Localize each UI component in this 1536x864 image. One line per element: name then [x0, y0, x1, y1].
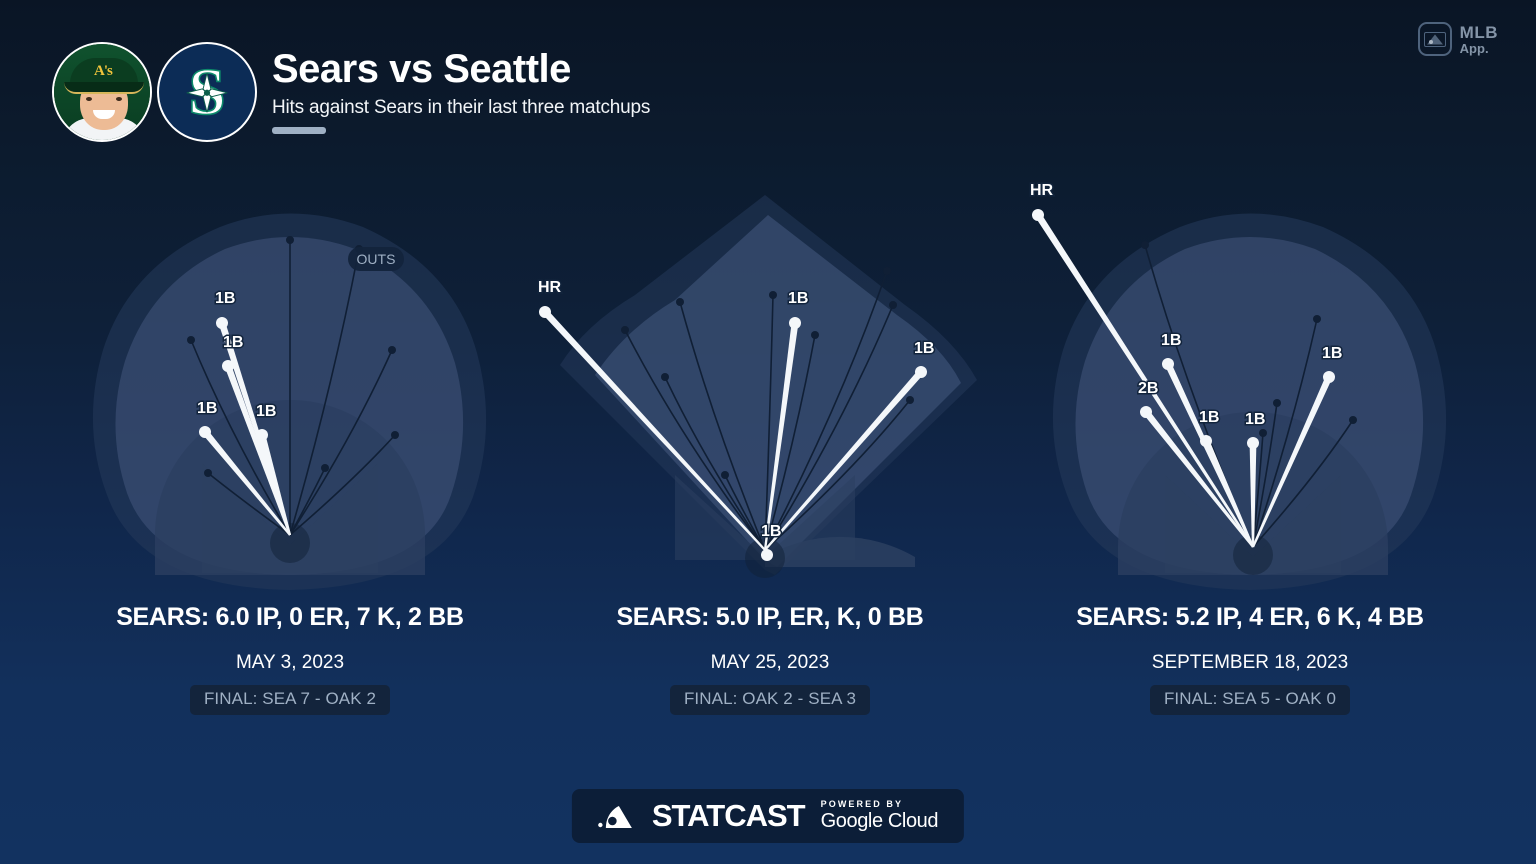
out-endpoint-marker [286, 236, 294, 244]
hit-label: 1B [223, 334, 243, 351]
game-date-0: MAY 3, 2023 [45, 652, 535, 674]
out-endpoint-marker [621, 326, 629, 334]
hit-label: 2B [1138, 380, 1158, 397]
hit-endpoint-marker [199, 426, 211, 438]
hit-endpoint-marker [256, 429, 268, 441]
google-cloud-label: Google Cloud [821, 810, 939, 833]
out-endpoint-marker [321, 464, 329, 472]
out-endpoint-marker [721, 471, 729, 479]
out-endpoint-marker [1313, 315, 1321, 323]
page-header: A's S ™ Sears vs Seattle Hits agains [0, 0, 1536, 170]
google-cloud-attribution: POWERED BY Google Cloud [821, 799, 939, 833]
hit-endpoint-marker [222, 360, 234, 372]
page-subtitle: Hits against Sears in their last three m… [272, 97, 650, 119]
hit-label: HR [1030, 182, 1054, 199]
hit-label: 1B [1322, 345, 1342, 362]
hit-endpoint-marker [539, 306, 551, 318]
header-titles: Sears vs Seattle Hits against Sears in t… [272, 48, 650, 134]
final-score-badge-0: FINAL: SEA 7 - OAK 2 [190, 685, 390, 715]
spray-chart-panel-2: HR1B2B1B1B1B SEARS: 5.2 IP, 4 ER, 6 K, 4… [1005, 175, 1495, 735]
statcast-footer-badge: STATCAST POWERED BY Google Cloud [572, 789, 964, 843]
hit-label: 1B [215, 290, 235, 307]
athletics-cap-brim [64, 82, 144, 94]
mlb-logo-icon [1418, 22, 1452, 56]
athletics-player-headshot: A's [52, 42, 152, 142]
mlb-app-wordmark: MLB App. [1460, 24, 1498, 55]
out-endpoint-marker [906, 396, 914, 404]
final-score-wrap-2: FINAL: SEA 5 - OAK 0 [1005, 685, 1495, 715]
final-score-wrap-0: FINAL: SEA 7 - OAK 2 [45, 685, 535, 715]
hit-endpoint-marker [1323, 371, 1335, 383]
outs-legend-label: OUTS [357, 251, 396, 267]
page-title: Sears vs Seattle [272, 48, 650, 90]
out-endpoint-marker [883, 267, 891, 275]
hit-endpoint-marker [1247, 437, 1259, 449]
game-date-1: MAY 25, 2023 [525, 652, 1015, 674]
final-score-wrap-1: FINAL: OAK 2 - SEA 3 [525, 685, 1015, 715]
title-accent-bar [272, 127, 326, 134]
out-endpoint-marker [1259, 429, 1267, 437]
athletics-cap-logo-text: A's [94, 63, 112, 80]
out-endpoint-marker [204, 469, 212, 477]
hit-endpoint-marker [216, 317, 228, 329]
mlb-wordmark-line2: App. [1460, 42, 1498, 55]
spray-chart-0[interactable]: 1B1B1B1BOUTS [45, 175, 535, 605]
hit-label: 1B [788, 290, 808, 307]
hit-endpoint-marker [1200, 435, 1212, 447]
out-endpoint-marker [388, 346, 396, 354]
hit-endpoint-marker [915, 366, 927, 378]
statcast-wordmark: STATCAST [652, 798, 805, 834]
out-endpoint-marker [1141, 241, 1149, 249]
powered-by-label: POWERED BY [821, 799, 939, 809]
out-endpoint-marker [1349, 416, 1357, 424]
hit-endpoint-marker [761, 549, 773, 561]
hit-label: 1B [1161, 332, 1181, 349]
spray-chart-2[interactable]: HR1B2B1B1B1B [1005, 175, 1495, 605]
pitcher-stat-line-0: SEARS: 6.0 IP, 0 ER, 7 K, 2 BB [45, 603, 535, 632]
headshot-eye-right [116, 97, 122, 101]
out-endpoint-marker [1273, 399, 1281, 407]
spray-chart-1[interactable]: HR1B1B1B [525, 175, 1015, 605]
hit-label: 1B [1245, 411, 1265, 428]
headshot-eye-left [86, 97, 92, 101]
pitcher-stat-line-1: SEARS: 5.0 IP, ER, K, 0 BB [525, 603, 1015, 632]
out-endpoint-marker [187, 336, 195, 344]
game-date-2: SEPTEMBER 18, 2023 [1005, 652, 1495, 674]
pitcher-stat-line-2: SEARS: 5.2 IP, 4 ER, 6 K, 4 BB [1005, 603, 1495, 632]
field-graphic [1053, 214, 1446, 591]
mlb-wordmark-line1: MLB [1460, 24, 1498, 41]
spray-chart-panel-0: 1B1B1B1BOUTS SEARS: 6.0 IP, 0 ER, 7 K, 2… [45, 175, 535, 735]
out-endpoint-marker [676, 298, 684, 306]
out-endpoint-marker [769, 291, 777, 299]
out-endpoint-marker [391, 431, 399, 439]
trademark-symbol: ™ [240, 124, 248, 133]
matchup-logos: A's S ™ [52, 42, 262, 144]
mariners-logo: S ™ [157, 42, 257, 142]
final-score-badge-1: FINAL: OAK 2 - SEA 3 [670, 685, 870, 715]
out-endpoint-marker [661, 373, 669, 381]
hit-label: 1B [914, 340, 934, 357]
final-score-badge-2: FINAL: SEA 5 - OAK 0 [1150, 685, 1350, 715]
mlb-app-brand: MLB App. [1418, 22, 1498, 56]
outs-legend-badge[interactable]: OUTS [348, 247, 404, 271]
mlb-silhouette-icon [598, 801, 640, 831]
out-endpoint-marker [889, 301, 897, 309]
out-endpoint-marker [811, 331, 819, 339]
hit-label: 1B [197, 400, 217, 417]
hit-label: 1B [1199, 409, 1219, 426]
hit-endpoint-marker [1032, 209, 1044, 221]
hit-label: 1B [761, 523, 781, 540]
spray-charts-row: 1B1B1B1BOUTS SEARS: 6.0 IP, 0 ER, 7 K, 2… [0, 175, 1536, 735]
hit-endpoint-marker [1140, 406, 1152, 418]
hit-endpoint-marker [1162, 358, 1174, 370]
hit-label: 1B [256, 403, 276, 420]
hit-endpoint-marker [789, 317, 801, 329]
spray-chart-panel-1: HR1B1B1B SEARS: 5.0 IP, ER, K, 0 BB MAY … [525, 175, 1015, 735]
hit-label: HR [538, 279, 562, 296]
